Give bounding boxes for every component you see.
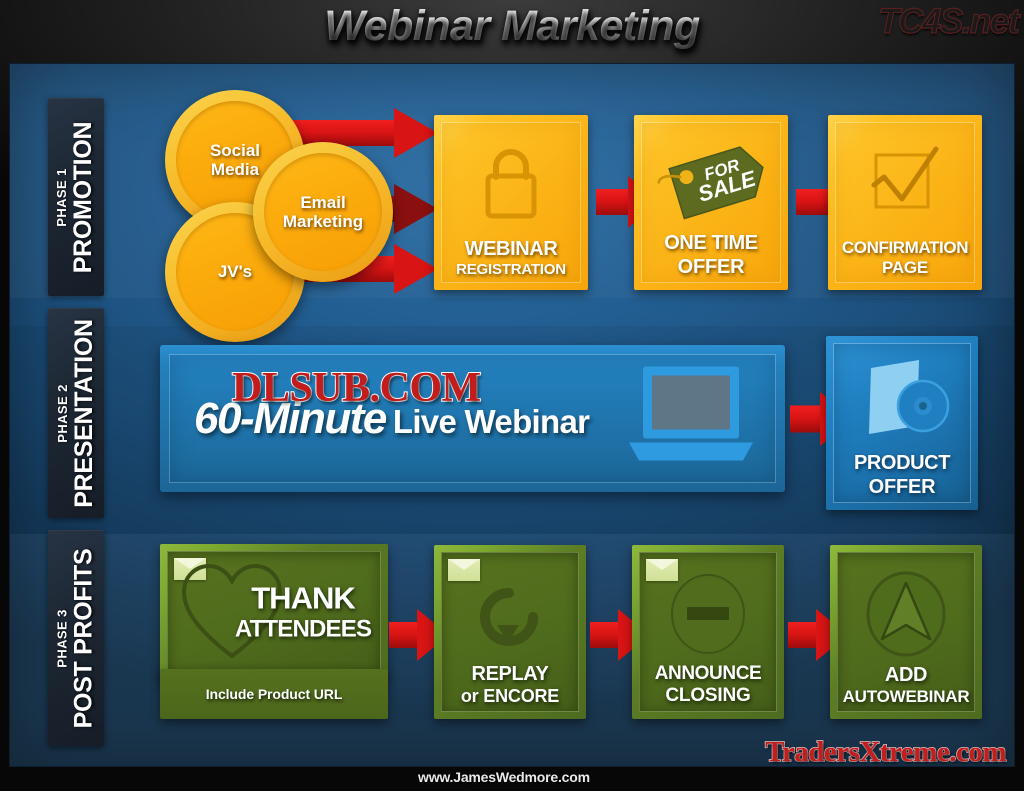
tc4s-watermark: TC4S.net: [878, 2, 1018, 42]
thank-attendees-footer-label: Include Product URL: [160, 669, 388, 719]
footer-url: www.JamesWedmore.com: [418, 769, 590, 785]
card-title: ANNOUNCE: [655, 664, 762, 684]
card-title: CONFIRMATION: [842, 239, 968, 257]
source-circle-label: Email Marketing: [277, 193, 369, 231]
card-subtitle: CLOSING: [665, 686, 750, 707]
diagram-canvas: Webinar Marketing TC4S.net PHASE 1 PROMO…: [0, 0, 1024, 791]
card-subtitle: OFFER: [678, 256, 745, 278]
main-canvas: PHASE 1 PROMOTION PHASE 2 PRESENTATION P…: [10, 64, 1014, 766]
card-subtitle: or ENCORE: [461, 687, 559, 707]
source-circle-label: Social Media: [204, 141, 266, 179]
card-subtitle: OFFER: [869, 476, 936, 498]
card-title: ONE TIME: [664, 233, 757, 254]
card-title: THANK: [218, 582, 388, 615]
phase-tab-number: PHASE 3: [56, 609, 69, 667]
thank-attendees-main: THANK ATTENDEES: [160, 544, 388, 681]
card-subtitle: REGISTRATION: [456, 262, 566, 279]
card-title: WEBINAR: [465, 239, 558, 260]
card-subtitle: PAGE: [882, 259, 928, 278]
tradersxtreme-watermark: TradersXtreme.com: [765, 736, 1006, 769]
laptop-icon: [621, 360, 761, 477]
card-subtitle: ATTENDEES: [218, 617, 388, 643]
phase-tab-presentation[interactable]: PHASE 2 PRESENTATION: [48, 308, 104, 518]
card-replay-or-encore[interactable]: REPLAY or ENCORE: [434, 545, 586, 719]
card-one-time-offer[interactable]: FOR SALE ONE TIME OFFER: [634, 115, 788, 290]
phase-tab-post-profits[interactable]: PHASE 3 POST PROFITS: [48, 530, 104, 746]
phase-tab-number: PHASE 2: [56, 384, 69, 442]
title-bar: Webinar Marketing TC4S.net: [0, 0, 1024, 66]
phase-tab-promotion[interactable]: PHASE 1 PROMOTION: [48, 98, 104, 296]
phase-tab-name: PROMOTION: [72, 121, 97, 272]
card-title: REPLAY: [472, 664, 549, 685]
dlsub-watermark: DLSUB.COM: [232, 364, 481, 412]
thank-attendees-footer: Include Product URL: [160, 669, 388, 719]
card-subtitle: AUTOWEBINAR: [843, 688, 970, 707]
phase-tab-name: PRESENTATION: [72, 319, 97, 508]
source-circle-email-marketing[interactable]: Email Marketing: [253, 142, 393, 282]
card-title: ADD: [885, 665, 927, 686]
card-confirmation-page[interactable]: CONFIRMATION PAGE: [828, 115, 982, 290]
card-add-autowebinar[interactable]: ADD AUTOWEBINAR: [830, 545, 982, 719]
card-title: PRODUCT: [854, 453, 950, 474]
card-product-offer[interactable]: PRODUCT OFFER: [826, 336, 978, 510]
card-announce-closing[interactable]: ANNOUNCE CLOSING: [632, 545, 784, 719]
card-thank-attendees[interactable]: THANK ATTENDEES Include Product URL: [160, 544, 388, 719]
source-circle-label: JV's: [212, 262, 258, 281]
page-title: Webinar Marketing: [0, 2, 1024, 51]
phase-tab-number: PHASE 1: [56, 168, 69, 226]
card-webinar-registration[interactable]: WEBINAR REGISTRATION: [434, 115, 588, 290]
phase-tab-name: POST PROFITS: [72, 548, 97, 728]
